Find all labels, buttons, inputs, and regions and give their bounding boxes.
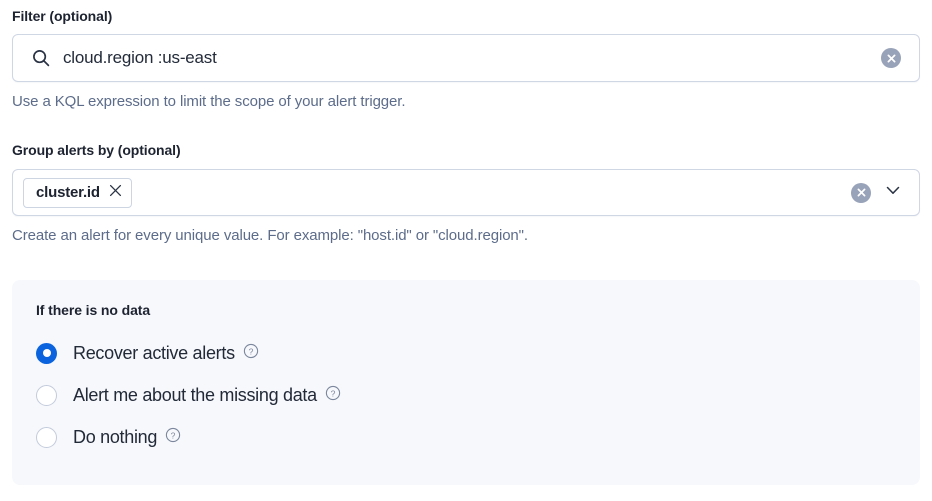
radio-option-recover-active-alerts[interactable]: Recover active alerts ? (36, 332, 920, 374)
filter-help-text: Use a KQL expression to limit the scope … (12, 91, 920, 113)
search-icon (31, 48, 51, 68)
group-by-label: Group alerts by (optional) (12, 140, 920, 161)
radio-label: Do nothing (73, 427, 157, 448)
radio-button-selected[interactable] (36, 343, 57, 364)
svg-text:?: ? (171, 430, 176, 440)
selected-field-label: cluster.id (36, 184, 100, 201)
filter-input-value[interactable]: cloud.region :us-east (63, 48, 881, 68)
close-icon[interactable] (109, 184, 122, 202)
radio-label: Recover active alerts (73, 343, 235, 364)
clear-circle-icon[interactable] (851, 183, 871, 203)
radio-button-unselected[interactable] (36, 385, 57, 406)
radio-label: Alert me about the missing data (73, 385, 317, 406)
radio-option-do-nothing[interactable]: Do nothing ? (36, 416, 920, 458)
alert-rule-form: Filter (optional) cloud.region :us-east … (0, 0, 932, 501)
group-by-combobox[interactable]: cluster.id (12, 169, 920, 216)
radio-option-alert-me-about-missing-data[interactable]: Alert me about the missing data ? (36, 374, 920, 416)
filter-field-block: Filter (optional) cloud.region :us-east … (0, 0, 932, 113)
clear-circle-icon[interactable] (881, 48, 901, 68)
group-by-help-text: Create an alert for every unique value. … (12, 225, 920, 247)
no-data-panel-title: If there is no data (36, 302, 920, 318)
group-by-field-block: Group alerts by (optional) cluster.id (0, 140, 932, 247)
question-circle-icon[interactable]: ? (325, 385, 341, 406)
svg-text:?: ? (330, 388, 335, 398)
no-data-panel: If there is no data Recover active alert… (12, 280, 920, 485)
filter-label: Filter (optional) (12, 6, 920, 27)
radio-button-unselected[interactable] (36, 427, 57, 448)
question-circle-icon[interactable]: ? (243, 343, 259, 364)
chevron-down-icon[interactable] (883, 180, 903, 205)
svg-text:?: ? (248, 346, 253, 356)
question-circle-icon[interactable]: ? (165, 427, 181, 448)
filter-input[interactable]: cloud.region :us-east (12, 34, 920, 82)
selected-field-pill[interactable]: cluster.id (23, 178, 132, 208)
